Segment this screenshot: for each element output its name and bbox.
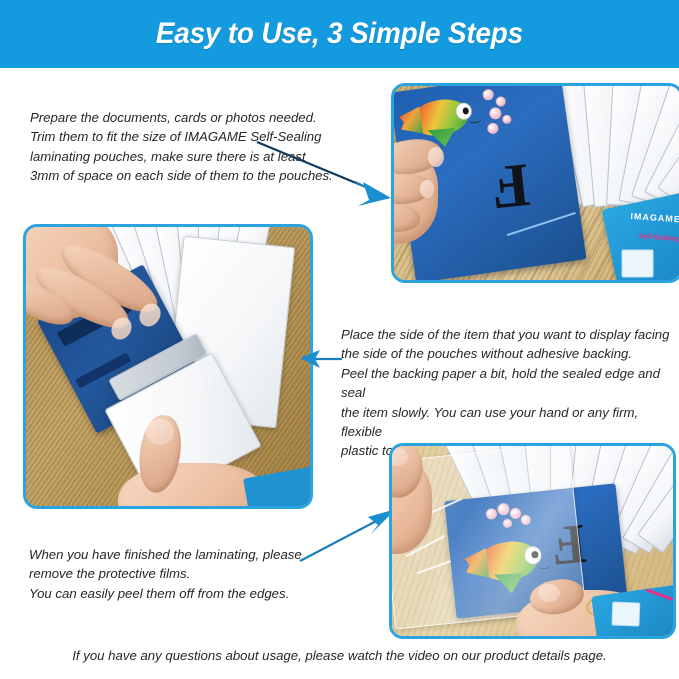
photo-peel-film-content: F (392, 446, 673, 636)
page-title: Easy to Use, 3 Simple Steps (156, 17, 523, 51)
product-box-brand: IMAGAME (630, 211, 679, 224)
card-letter-glyph: F (488, 153, 532, 219)
footer-note: If you have any questions about usage, p… (0, 648, 679, 663)
photo-trim-cards-content: F IMAGAME Self-Sealing (394, 86, 679, 280)
step-3-instructions: When you have finished the laminating, p… (29, 545, 359, 603)
header-banner: Easy to Use, 3 Simple Steps (0, 0, 679, 68)
photo-trim-cards: F IMAGAME Self-Sealing (391, 83, 679, 283)
step-2-instructions: Place the side of the item that you want… (341, 325, 671, 461)
photo-peel-film: F (389, 443, 676, 639)
product-box-subtitle: Self-Sealing (638, 233, 678, 243)
hand-pressing-card (26, 227, 180, 367)
hand-peeling-film (392, 446, 454, 568)
hand-holding-card (394, 122, 468, 252)
step-1-instructions: Prepare the documents, cards or photos n… (30, 108, 360, 186)
photo-seal-pouch (23, 224, 313, 509)
photo-seal-pouch-content (26, 227, 310, 506)
